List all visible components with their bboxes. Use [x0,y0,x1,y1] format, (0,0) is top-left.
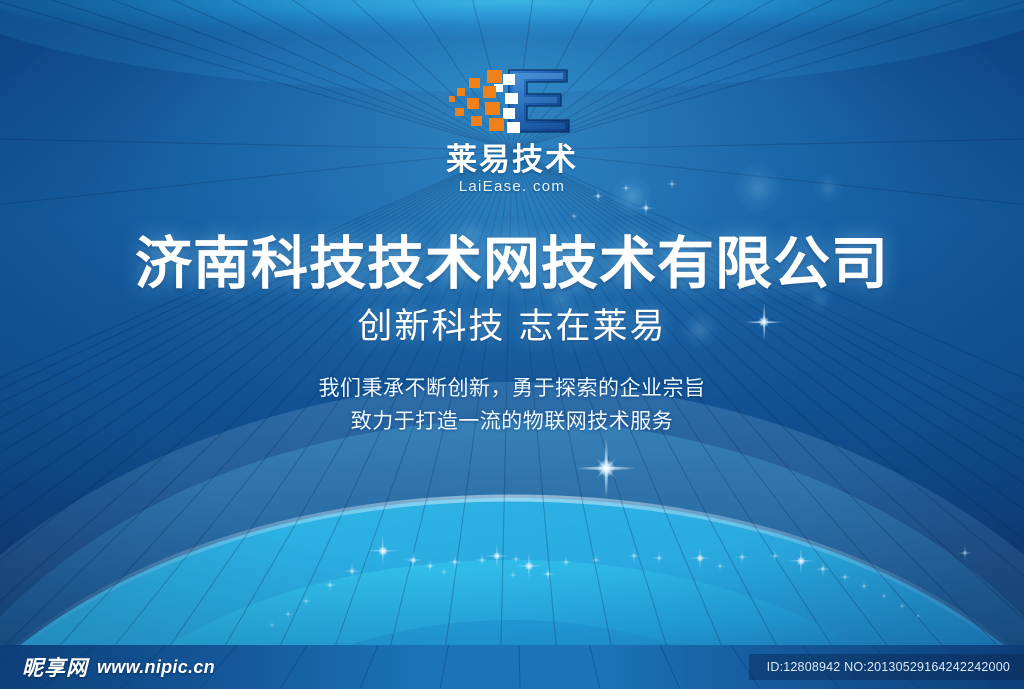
poster-canvas: 莱易技术 LaiEase. com 济南科技技术网技术有限公司 创新科技 志在莱… [0,0,1024,689]
nipic-watermark: 昵享网 www.nipic.cn [22,652,215,682]
slogan-line-1: 我们秉承不断创新，勇于探索的企业宗旨 [0,372,1024,405]
laiease-pixel-e-logo [447,62,577,140]
logo-mark-svg [447,62,577,140]
logo-chinese-name: 莱易技术 [407,144,617,177]
slogan-block: 我们秉承不断创新，勇于探索的企业宗旨 致力于打造一流的物联网技术服务 [0,372,1024,437]
nipic-brand-url: www.nipic.cn [97,657,215,678]
page-title: 济南科技技术网技术有限公司 [0,218,1024,300]
page-subtitle: 创新科技 志在莱易 [0,298,1024,349]
watermark-footer: 昵享网 www.nipic.cn ID:12808942 NO:20130529… [0,645,1024,689]
slogan-line-2: 致力于打造一流的物联网技术服务 [0,405,1024,438]
logo-latin-name: LaiEase. com [407,178,617,195]
company-logo: 莱易技术 LaiEase. com [407,62,617,195]
image-id-label: ID:12808942 NO:20130529164242242000 [749,654,1024,680]
nipic-brand-name: 昵享网 [22,652,88,682]
